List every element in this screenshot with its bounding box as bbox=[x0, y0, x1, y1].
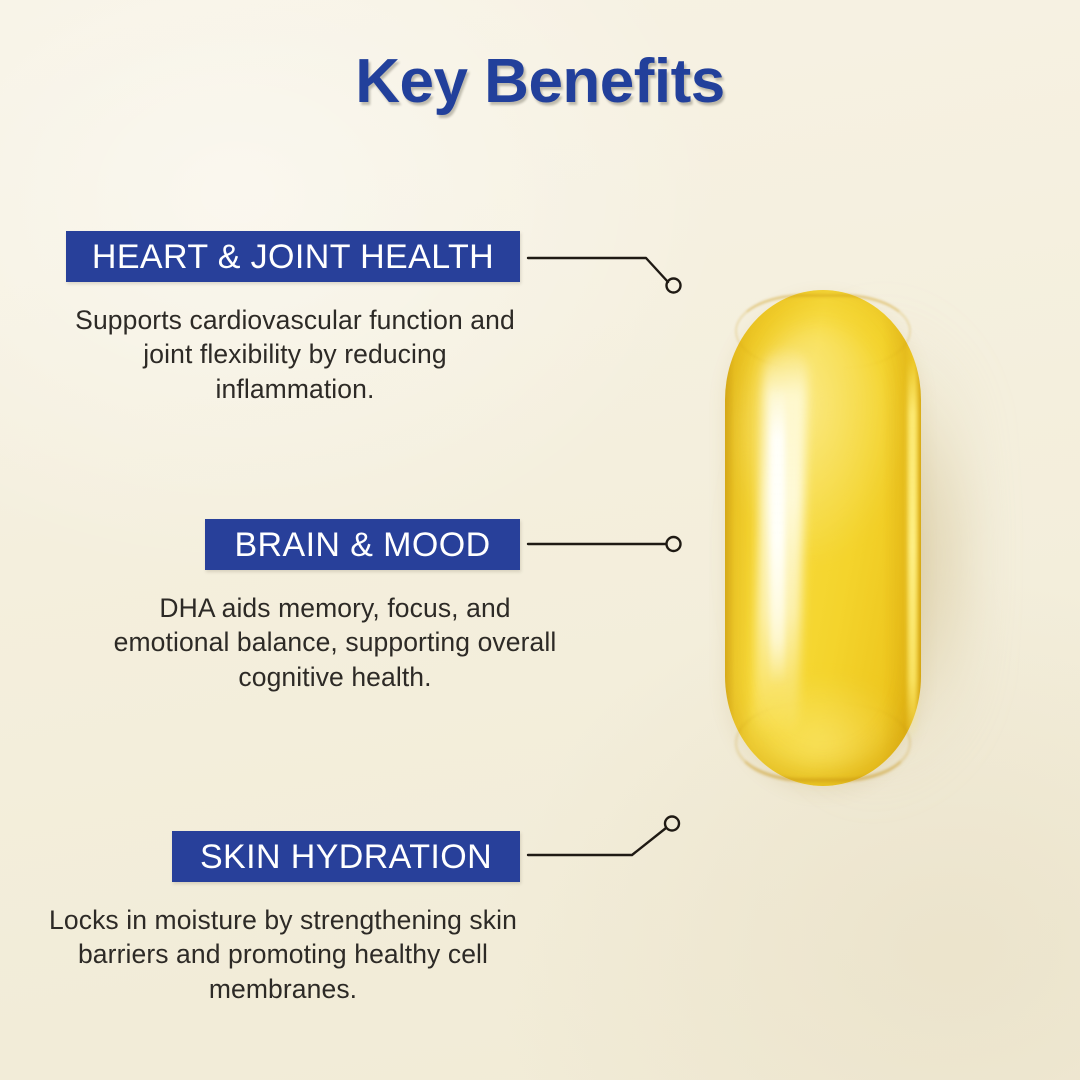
badge-label: BRAIN & MOOD bbox=[234, 528, 490, 562]
page-title: Key Benefits bbox=[0, 46, 1080, 117]
infographic-canvas: Key Benefits HEART & JOINT HEALTH Suppor… bbox=[0, 0, 1080, 1080]
badge-brain-mood[interactable]: BRAIN & MOOD bbox=[205, 519, 520, 570]
badge-label: HEART & JOINT HEALTH bbox=[92, 240, 494, 274]
benefit-description-1: Supports cardiovascular function and joi… bbox=[70, 303, 520, 406]
capsule-highlight-core bbox=[770, 386, 785, 686]
capsule-seam-top bbox=[735, 294, 911, 368]
benefit-description-3: Locks in moisture by strengthening skin … bbox=[48, 903, 518, 1006]
capsule-rim-light bbox=[908, 360, 917, 740]
product-image-softgel-capsule bbox=[700, 270, 1000, 810]
benefit-description-2: DHA aids memory, focus, and emotional ba… bbox=[110, 591, 560, 694]
badge-label: SKIN HYDRATION bbox=[200, 840, 492, 874]
connector-endpoint-circle-1 bbox=[667, 279, 681, 293]
capsule-body bbox=[725, 290, 921, 786]
connector-line-3 bbox=[520, 806, 690, 878]
connector-endpoint-circle-3 bbox=[665, 817, 679, 831]
badge-heart-joint-health[interactable]: HEART & JOINT HEALTH bbox=[66, 231, 520, 282]
connector-line-2 bbox=[520, 520, 690, 564]
connector-endpoint-circle-2 bbox=[667, 537, 681, 551]
badge-skin-hydration[interactable]: SKIN HYDRATION bbox=[172, 831, 520, 882]
connector-line-1 bbox=[520, 236, 690, 306]
capsule-bottom-glow bbox=[747, 680, 897, 770]
